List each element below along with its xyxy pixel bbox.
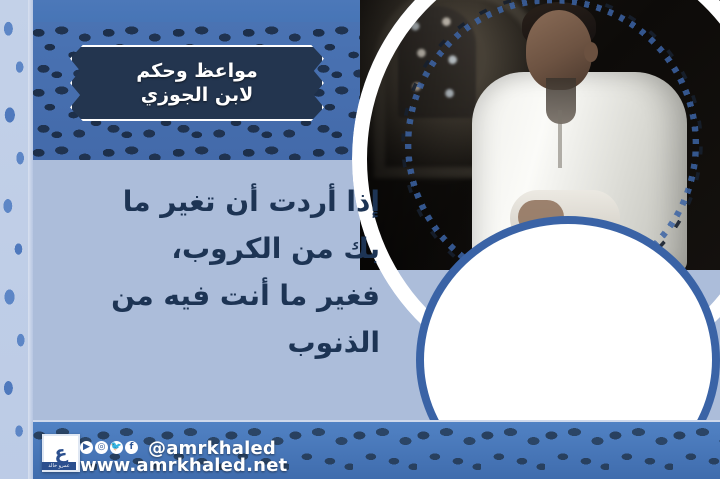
website-url[interactable]: www.amrkhaled.net — [80, 455, 287, 476]
title-badge: مواعظ وحكم لابن الجوزي — [70, 45, 324, 121]
twitter-icon[interactable]: 🐦 — [110, 441, 123, 454]
left-border-edge — [28, 0, 33, 479]
brand-logo-mark: ع — [55, 444, 68, 463]
praying-man-photo — [360, 0, 720, 270]
quote-line-1: إذا أردت أن تغير ما — [40, 178, 380, 225]
quote-text: إذا أردت أن تغير ما بك من الكروب، فغير م… — [40, 178, 380, 408]
man-ear — [584, 42, 598, 62]
quote-line-4: الذنوب — [40, 319, 380, 366]
quote-line-2: بك من الكروب، — [40, 225, 380, 272]
social-icons-row: f 🐦 ◎ ▶ — [80, 441, 138, 454]
poster-card: مواعظ وحكم لابن الجوزي إذا أردت أن تغير … — [0, 0, 720, 479]
quote-line-3: فغير ما أنت فيه من — [40, 272, 380, 319]
badge-title-line-1: مواعظ وحكم — [136, 59, 258, 83]
instagram-icon[interactable]: ◎ — [95, 441, 108, 454]
youtube-icon[interactable]: ▶ — [80, 441, 93, 454]
facebook-icon[interactable]: f — [125, 441, 138, 454]
man-placket — [558, 110, 562, 168]
left-floral-border — [0, 0, 28, 479]
brand-logo-caption: عمرو خالد — [42, 462, 76, 470]
man-hand — [518, 200, 564, 234]
badge-title-line-2: لابن الجوزي — [141, 83, 254, 108]
